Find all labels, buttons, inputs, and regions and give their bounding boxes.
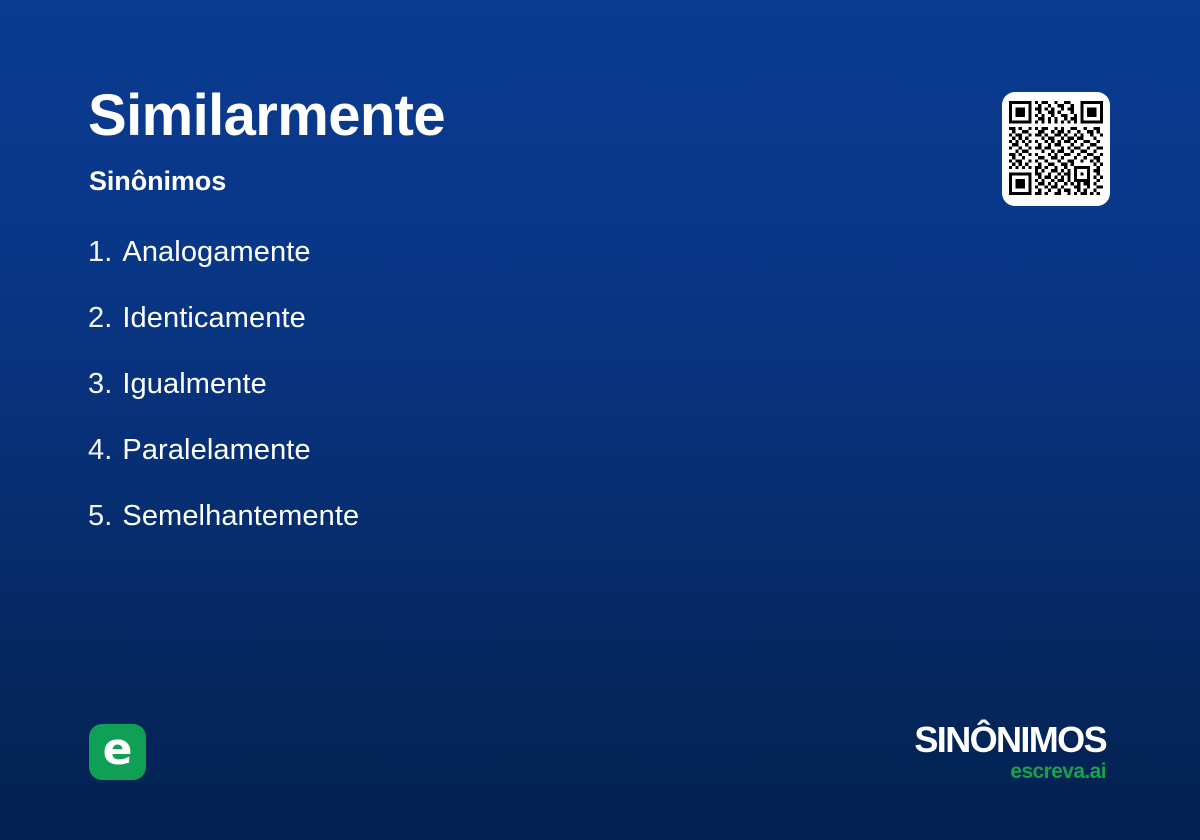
list-item: 1. Analogamente bbox=[88, 236, 848, 302]
list-item-index: 2. bbox=[88, 302, 112, 335]
list-item: 4. Paralelamente bbox=[88, 434, 848, 500]
qr-code-container[interactable] bbox=[1002, 92, 1110, 206]
list-item: 5. Semelhantemente bbox=[88, 500, 848, 566]
list-item: 2. Identicamente bbox=[88, 302, 848, 368]
list-item-index: 5. bbox=[88, 500, 112, 533]
list-item: 3. Igualmente bbox=[88, 368, 848, 434]
list-item-label: Identicamente bbox=[122, 302, 305, 335]
qr-code-icon bbox=[1009, 100, 1103, 196]
sinonimos-logo[interactable]: SINÔNIMOS escreva.ai bbox=[914, 722, 1106, 782]
list-item-label: Igualmente bbox=[122, 368, 267, 401]
letter-e-icon: e bbox=[103, 728, 133, 772]
page-subtitle: Sinônimos bbox=[89, 167, 226, 197]
list-item-label: Analogamente bbox=[122, 236, 310, 269]
list-item-label: Semelhantemente bbox=[122, 500, 359, 533]
escreva-badge[interactable]: e bbox=[89, 724, 146, 780]
logo-wordmark: SINÔNIMOS bbox=[914, 722, 1106, 758]
list-item-label: Paralelamente bbox=[122, 434, 310, 467]
page-title: Similarmente bbox=[88, 86, 445, 147]
list-item-index: 3. bbox=[88, 368, 112, 401]
list-item-index: 4. bbox=[88, 434, 112, 467]
list-item-index: 1. bbox=[88, 236, 112, 269]
logo-tagline: escreva.ai bbox=[914, 761, 1106, 782]
synonym-card: Similarmente Sinônimos 1. Analogamente 2… bbox=[0, 0, 1200, 840]
synonym-list: 1. Analogamente 2. Identicamente 3. Igua… bbox=[88, 236, 848, 566]
